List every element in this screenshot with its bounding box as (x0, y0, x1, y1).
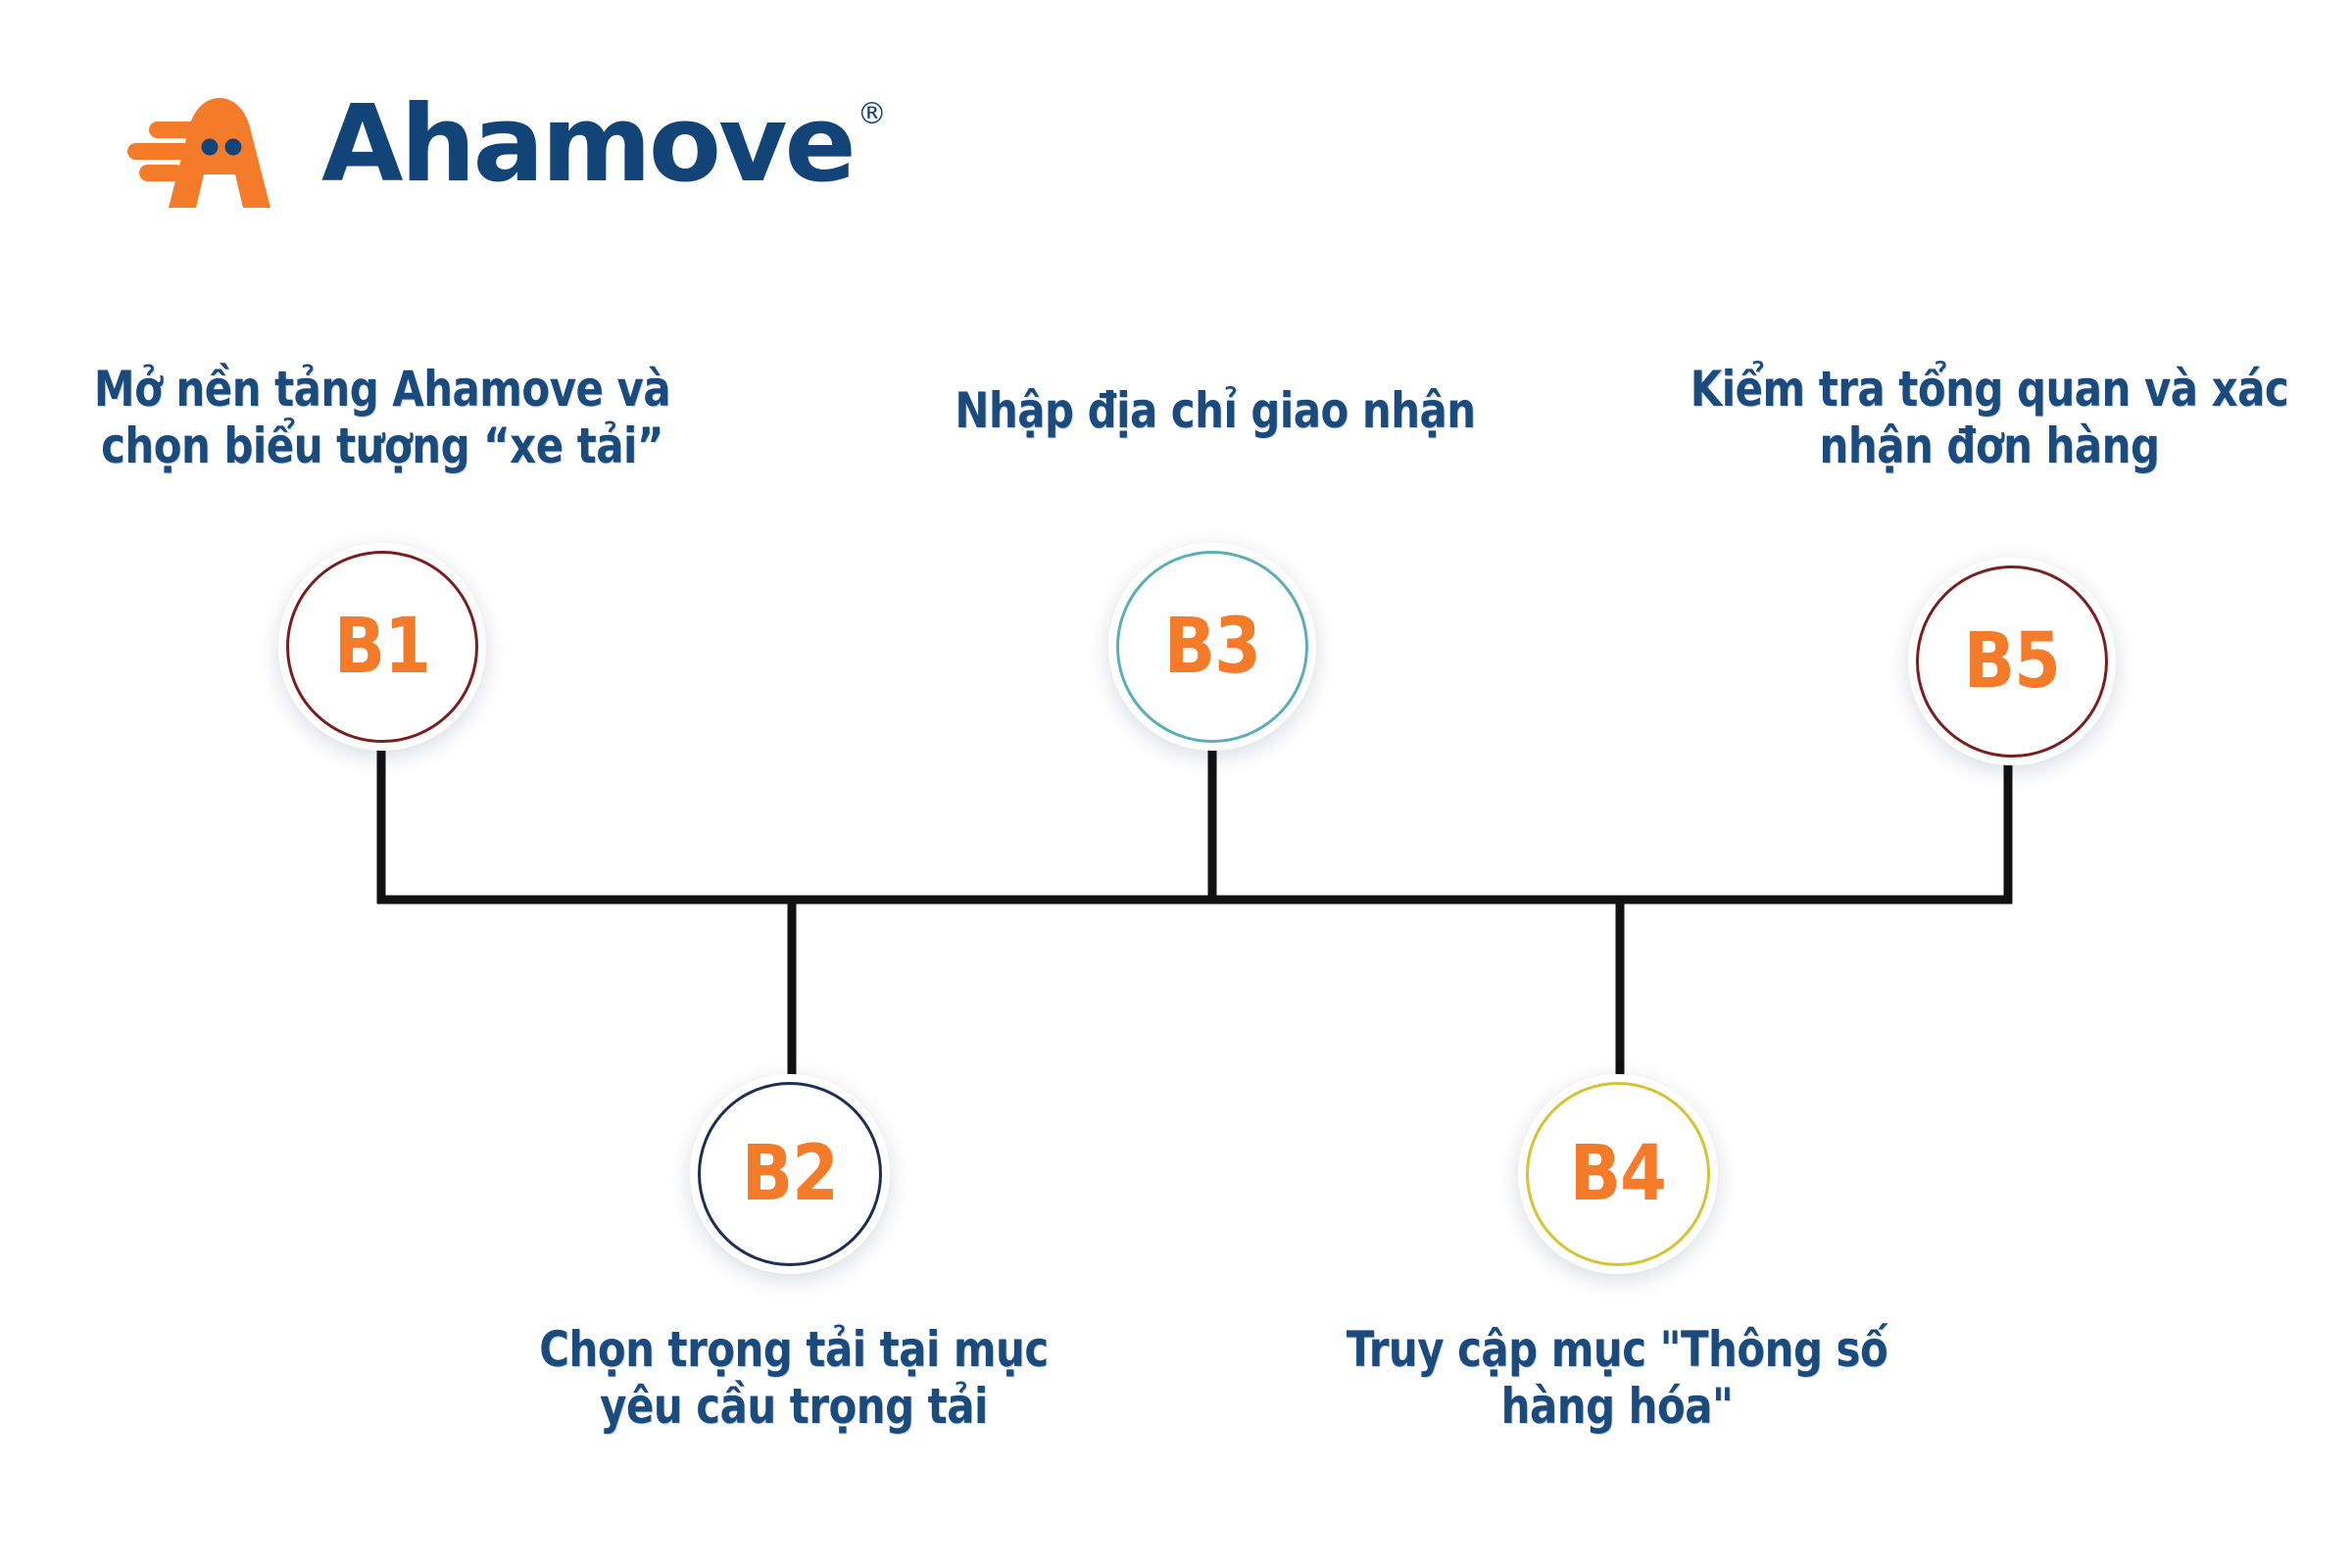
ahamove-logo: Ahamove ® (125, 76, 887, 214)
step-caption-b5: Kiểm tra tổng quan và xác nhận đơn hàng (1689, 361, 2290, 474)
step-caption-b1: Mở nền tảng Ahamove và chọn biểu tượng “… (64, 361, 702, 474)
step-node-b4[interactable]: B4 (1518, 1074, 1718, 1274)
logo-wordmark: Ahamove (321, 92, 854, 198)
connector-lines (0, 0, 2352, 1568)
step-caption-b2: Chọn trọng tải tại mục yêu cầu trọng tải (484, 1321, 1103, 1435)
step-node-b1[interactable]: B1 (278, 543, 486, 751)
step-node-b2[interactable]: B2 (690, 1074, 890, 1274)
caption-line: hàng hóa" (1298, 1378, 1936, 1435)
caption-line: nhận đơn hàng (1689, 417, 2290, 474)
step-badge-label: B3 (1164, 609, 1260, 685)
step-caption-b4: Truy cập mục "Thông số hàng hóa" (1298, 1321, 1936, 1435)
caption-line: Kiểm tra tổng quan và xác (1689, 361, 2290, 417)
step-badge-label: B4 (1570, 1136, 1666, 1212)
step-badge-label: B2 (742, 1136, 838, 1212)
caption-line: Mở nền tảng Ahamove và (64, 361, 702, 417)
step-caption-b3: Nhập địa chỉ giao nhận (906, 382, 1525, 439)
ahamove-logo-mark-icon (125, 76, 300, 214)
step-node-b5[interactable]: B5 (1908, 558, 2116, 765)
caption-line: Nhập địa chỉ giao nhận (906, 382, 1525, 439)
infographic-canvas: Ahamove ® Mở nền tảng Ahamove và chọn bi… (0, 0, 2352, 1568)
step-node-b3[interactable]: B3 (1108, 543, 1316, 751)
caption-line: Chọn trọng tải tại mục (484, 1321, 1103, 1378)
caption-line: chọn biểu tượng “xe tải” (64, 417, 702, 474)
caption-line: Truy cập mục "Thông số (1298, 1321, 1936, 1378)
registered-trademark-symbol: ® (857, 100, 887, 129)
step-badge-label: B5 (1964, 623, 2060, 700)
step-badge-label: B1 (334, 609, 430, 685)
caption-line: yêu cầu trọng tải (484, 1378, 1103, 1435)
